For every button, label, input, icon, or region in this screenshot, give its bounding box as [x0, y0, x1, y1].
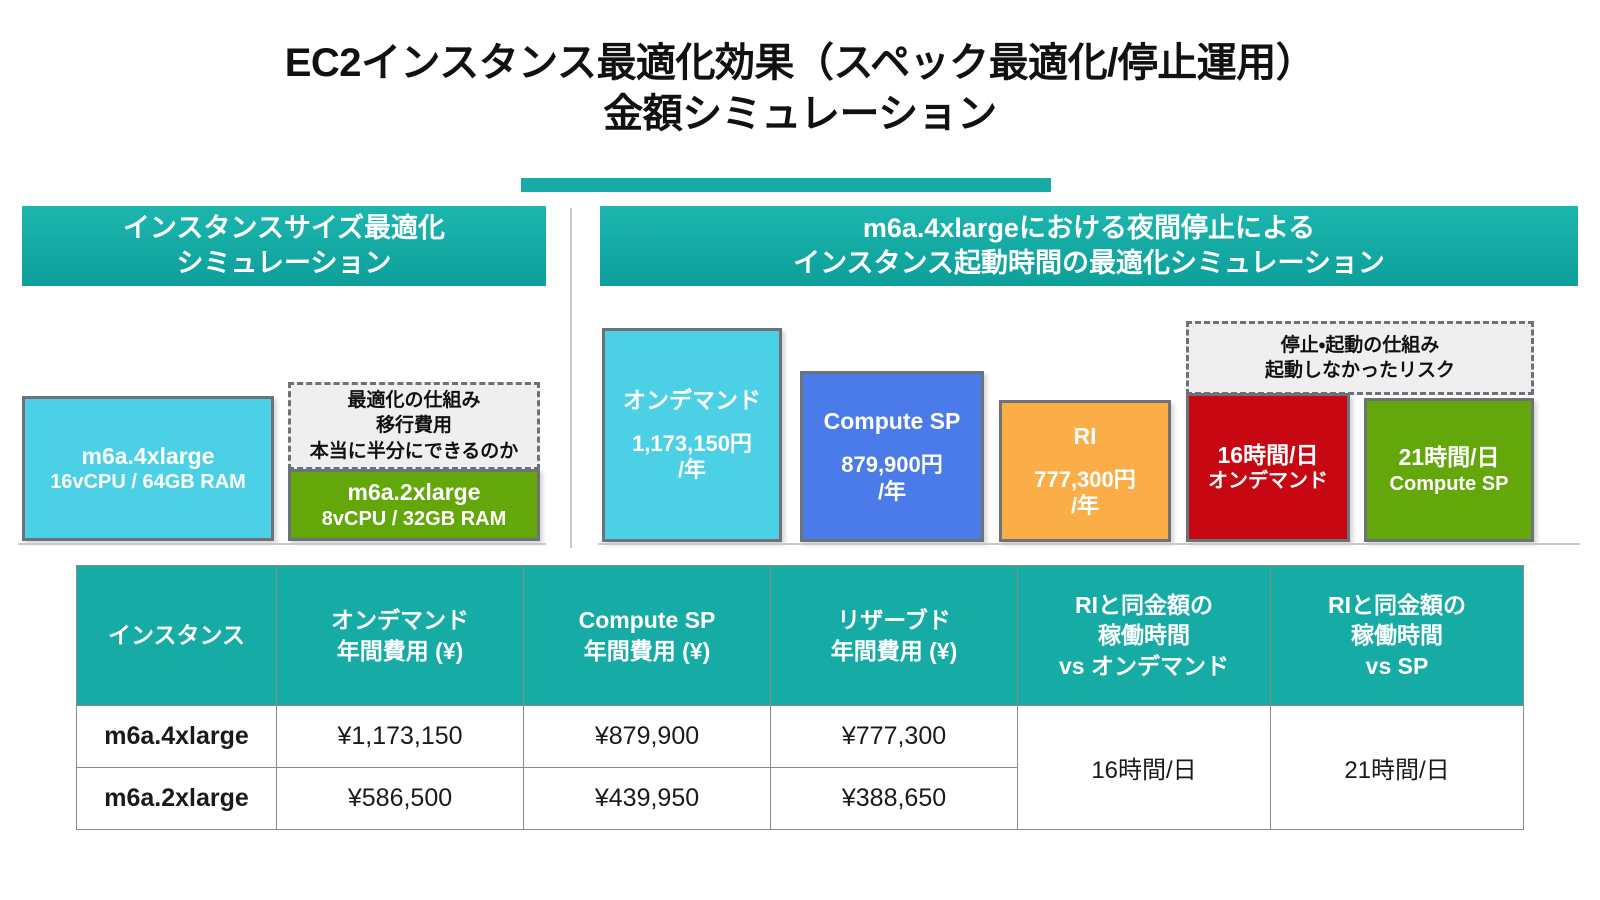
table-header-vs-ondemand: RIと同金額の 稼働時間 vs オンデマンド	[1018, 566, 1271, 706]
table-header-vs-sp: RIと同金額の 稼働時間 vs SP	[1271, 566, 1524, 706]
table-header-compute-sp: Compute SP 年間費用 (¥)	[524, 566, 771, 706]
bar-compute-sp: Compute SP 879,900円 /年	[800, 371, 984, 542]
bar-m6a-4xlarge: m6a.4xlarge 16vCPU / 64GB RAM	[22, 396, 274, 541]
bar-ondemand-label: オンデマンド	[623, 386, 761, 415]
section-banner-right-line-2: インスタンス起動時間の最適化シミュレーション	[793, 246, 1385, 281]
bar-ondemand-unit: /年	[678, 457, 706, 484]
bar-21h-compute-sp: 21時間/日 Compute SP	[1364, 398, 1534, 542]
table-header-vs-ondemand-line-2: 稼働時間	[1024, 620, 1264, 650]
callout-right-line-1: 停止・起動の仕組み	[1281, 333, 1439, 358]
cell-compute-sp-1: ¥439,950	[524, 768, 771, 830]
table-header-ondemand-line-2: 年間費用 (¥)	[283, 636, 517, 666]
cell-reserved-1: ¥388,650	[771, 768, 1018, 830]
callout-left-line-2: 移行費用	[376, 413, 452, 438]
bar-ri-unit: /年	[1071, 493, 1099, 520]
cell-reserved-0: ¥777,300	[771, 706, 1018, 768]
bar-m6a-2xlarge: m6a.2xlarge 8vCPU / 32GB RAM	[288, 469, 540, 541]
baseline-right	[598, 543, 1580, 545]
bar-16h-ondemand: 16時間/日 オンデマンド	[1186, 393, 1350, 542]
table-header-vs-sp-line-3: vs SP	[1277, 651, 1517, 681]
bar-ri-label: RI	[1074, 422, 1097, 451]
bar-16h-label: 16時間/日	[1218, 441, 1319, 470]
table-header-row: インスタンス オンデマンド 年間費用 (¥) Compute SP 年間費用 (…	[77, 566, 1524, 706]
title-accent-bar	[521, 178, 1051, 192]
page-title-line-2: 金額シミュレーション	[0, 89, 1600, 140]
table-header-compute-sp-line-1: Compute SP	[530, 605, 764, 635]
table-header-compute-sp-line-2: 年間費用 (¥)	[530, 636, 764, 666]
bar-16h-sublabel: オンデマンド	[1208, 469, 1328, 494]
table-header-instance: インスタンス	[77, 566, 277, 706]
bar-ri: RI 777,300円 /年	[999, 400, 1171, 542]
cell-ondemand-1: ¥586,500	[277, 768, 524, 830]
table-header-ondemand-line-1: オンデマンド	[283, 605, 517, 635]
bar-ondemand-value: 1,173,150円	[632, 431, 752, 458]
bar-21h-label: 21時間/日	[1399, 443, 1500, 472]
panel-divider	[570, 208, 572, 548]
callout-optimization-concerns: 最適化の仕組み 移行費用 本当に半分にできるのか	[288, 382, 540, 470]
table-header-instance-line-1: インスタンス	[83, 620, 270, 650]
page-title: EC2インスタンス最適化効果（スペック最適化/停止運用） 金額シミュレーション	[0, 38, 1600, 140]
table-header-vs-sp-line-2: 稼働時間	[1277, 620, 1517, 650]
bar-m6a-2xlarge-label: m6a.2xlarge	[348, 478, 481, 507]
callout-right-line-2: 起動しなかったリスク	[1265, 358, 1455, 383]
bar-21h-sublabel: Compute SP	[1390, 472, 1509, 497]
callout-stop-start-risk: 停止・起動の仕組み 起動しなかったリスク	[1186, 321, 1534, 395]
table-header-vs-sp-line-1: RIと同金額の	[1277, 590, 1517, 620]
table-header-ondemand: オンデマンド 年間費用 (¥)	[277, 566, 524, 706]
section-banner-left-line-2: シミュレーション	[177, 246, 392, 281]
section-banner-right: m6a.4xlargeにおける夜間停止による インスタンス起動時間の最適化シミュ…	[600, 206, 1578, 286]
bar-compute-sp-value: 879,900円	[841, 452, 943, 479]
bar-ri-value: 777,300円	[1034, 467, 1136, 494]
table-row: m6a.4xlarge ¥1,173,150 ¥879,900 ¥777,300…	[77, 706, 1524, 768]
cell-compute-sp-0: ¥879,900	[524, 706, 771, 768]
table-header-vs-ondemand-line-1: RIと同金額の	[1024, 590, 1264, 620]
section-banner-left: インスタンスサイズ最適化 シミュレーション	[22, 206, 546, 286]
page-title-line-1: EC2インスタンス最適化効果（スペック最適化/停止運用）	[0, 38, 1600, 89]
cell-vs-sp-merged: 21時間/日	[1271, 706, 1524, 830]
cost-comparison-table: インスタンス オンデマンド 年間費用 (¥) Compute SP 年間費用 (…	[76, 565, 1524, 830]
section-banner-right-line-1: m6a.4xlargeにおける夜間停止による	[863, 211, 1315, 246]
table-header-reserved: リザーブド 年間費用 (¥)	[771, 566, 1018, 706]
cell-ondemand-0: ¥1,173,150	[277, 706, 524, 768]
bar-m6a-4xlarge-spec: 16vCPU / 64GB RAM	[50, 470, 246, 495]
bar-m6a-2xlarge-spec: 8vCPU / 32GB RAM	[322, 507, 507, 532]
bar-m6a-4xlarge-label: m6a.4xlarge	[82, 442, 215, 471]
callout-left-line-1: 最適化の仕組み	[347, 388, 480, 413]
table-header-reserved-line-2: 年間費用 (¥)	[777, 636, 1011, 666]
bar-compute-sp-label: Compute SP	[824, 407, 961, 436]
section-banner-left-line-1: インスタンスサイズ最適化	[123, 211, 445, 246]
callout-left-line-3: 本当に半分にできるのか	[310, 439, 519, 464]
cell-instance-0: m6a.4xlarge	[77, 706, 277, 768]
cell-instance-1: m6a.2xlarge	[77, 768, 277, 830]
bar-ondemand: オンデマンド 1,173,150円 /年	[602, 328, 782, 542]
cell-vs-ondemand-merged: 16時間/日	[1018, 706, 1271, 830]
bar-compute-sp-unit: /年	[878, 479, 906, 506]
table-header-vs-ondemand-line-3: vs オンデマンド	[1024, 651, 1264, 681]
baseline-left	[18, 543, 546, 545]
table-header-reserved-line-1: リザーブド	[777, 605, 1011, 635]
